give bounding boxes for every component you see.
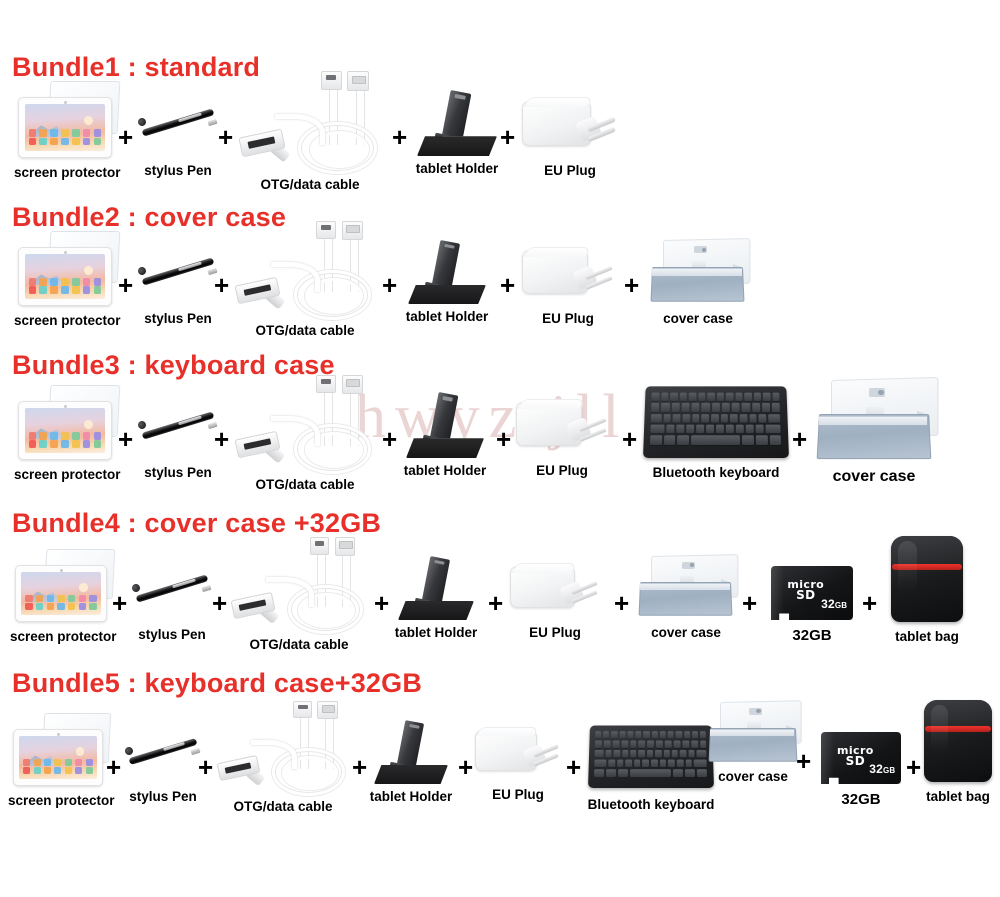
- micro-sd-card-icon: micro SD 32GB: [771, 566, 853, 620]
- bundle-4-item-eu-plug[interactable]: EU Plug: [506, 562, 604, 641]
- plus-sign: +: [392, 124, 407, 150]
- bundle-2-item-tablet-holder[interactable]: tablet Holder: [400, 240, 494, 325]
- item-label: stylus Pen: [136, 466, 220, 481]
- stylus-pen-icon: [141, 94, 215, 150]
- bundle-row-1: Bundle1 : standard screen protector +: [0, 44, 1000, 196]
- plus-sign: +: [906, 754, 921, 780]
- tablet-screen-protector-icon: [15, 558, 105, 620]
- stylus-pen-icon: [135, 562, 209, 614]
- plus-sign: +: [198, 754, 213, 780]
- item-label: Bluetooth keyboard: [580, 798, 722, 813]
- item-label: stylus Pen: [136, 164, 220, 179]
- tablet-screen-protector-icon: [13, 722, 101, 784]
- bundle-row-5: Bundle5 : keyboard case+32GB screen prot…: [0, 664, 1000, 836]
- tablet-holder-icon: [406, 392, 484, 458]
- plus-sign: +: [500, 272, 515, 298]
- otg-data-cable-icon: [240, 72, 380, 176]
- bundle-5-item-screen-protector[interactable]: screen protector: [8, 722, 106, 809]
- plus-sign: +: [500, 124, 515, 150]
- plus-sign: +: [118, 124, 133, 150]
- bundle-3-item-cover-case[interactable]: cover case: [806, 380, 942, 486]
- eu-plug-icon: [522, 96, 618, 154]
- eu-plug-icon: [522, 246, 614, 302]
- bundle-4-item-stylus-pen[interactable]: stylus Pen: [130, 562, 214, 643]
- bundle-5-item-tablet-bag[interactable]: tablet bag: [920, 700, 996, 805]
- item-label: tablet bag: [920, 790, 996, 805]
- item-label: 32GB: [812, 792, 910, 809]
- bundle-5-item-otg-data-cable[interactable]: OTG/data cable: [214, 702, 352, 815]
- bundle-2-item-stylus-pen[interactable]: stylus Pen: [136, 244, 220, 327]
- item-label: screen protector: [8, 794, 106, 809]
- sd-brand-line2: SD: [787, 590, 824, 601]
- cover-case-icon: [634, 556, 738, 618]
- bundle-3-item-eu-plug[interactable]: EU Plug: [512, 398, 612, 479]
- item-label: OTG/data cable: [228, 638, 370, 653]
- item-label: screen protector: [14, 314, 114, 329]
- bundle-1-item-otg-data-cable[interactable]: OTG/data cable: [236, 72, 384, 193]
- item-label: EU Plug: [506, 626, 604, 641]
- bundle-3-item-tablet-holder[interactable]: tablet Holder: [398, 392, 492, 479]
- plus-sign: +: [488, 590, 503, 616]
- bundle-2-item-cover-case[interactable]: cover case: [642, 240, 754, 327]
- bundle-1-item-eu-plug[interactable]: EU Plug: [518, 96, 622, 179]
- bundle-2-item-otg-data-cable[interactable]: OTG/data cable: [232, 222, 378, 339]
- item-label: cover case: [642, 312, 754, 327]
- plus-sign: +: [614, 590, 629, 616]
- bundle-1-item-stylus-pen[interactable]: stylus Pen: [136, 94, 220, 179]
- item-label: OTG/data cable: [232, 324, 378, 339]
- tablet-holder-icon: [374, 720, 448, 784]
- bundle-4-item-tablet-bag[interactable]: tablet bag: [878, 536, 976, 645]
- otg-data-cable-icon: [232, 538, 366, 636]
- item-label: EU Plug: [512, 464, 612, 479]
- eu-plug-icon: [516, 398, 608, 454]
- tablet-holder-icon: [408, 240, 486, 304]
- tablet-bag-icon: [924, 700, 992, 782]
- cover-case-icon: [704, 702, 802, 764]
- bluetooth-keyboard-icon: [588, 722, 714, 788]
- stylus-pen-icon: [141, 244, 215, 298]
- item-label: OTG/data cable: [232, 478, 378, 493]
- tablet-screen-protector-icon: [18, 90, 110, 156]
- bluetooth-keyboard-icon: [643, 382, 789, 458]
- item-label: EU Plug: [518, 312, 618, 327]
- plus-sign: +: [382, 272, 397, 298]
- plus-sign: +: [382, 426, 397, 452]
- plus-sign: +: [214, 426, 229, 452]
- bundle-row-3: Bundle3 : keyboard case screen protector…: [0, 346, 1000, 504]
- item-label: stylus Pen: [122, 790, 204, 805]
- micro-sd-card-icon: micro SD 32GB: [821, 732, 901, 784]
- bundle-1-item-screen-protector[interactable]: screen protector: [14, 90, 114, 181]
- plus-sign: +: [214, 272, 229, 298]
- plus-sign: +: [352, 754, 367, 780]
- bundle-2-item-screen-protector[interactable]: screen protector: [14, 240, 114, 329]
- tablet-screen-protector-icon: [18, 240, 110, 304]
- bundle-4-item-cover-case[interactable]: cover case: [630, 556, 742, 641]
- bundle-3-item-stylus-pen[interactable]: stylus Pen: [136, 398, 220, 481]
- cover-case-icon: [811, 380, 937, 462]
- bundle-5-item-tablet-holder[interactable]: tablet Holder: [366, 720, 456, 805]
- item-label: tablet Holder: [410, 162, 504, 177]
- tablet-bag-icon: [891, 536, 963, 622]
- bundle-5-item-cover-case[interactable]: cover case: [700, 702, 806, 785]
- eu-plug-icon: [475, 726, 561, 778]
- item-label: tablet Holder: [400, 310, 494, 325]
- bundle-4-item-tablet-holder[interactable]: tablet Holder: [390, 556, 482, 641]
- item-label: tablet Holder: [398, 464, 492, 479]
- item-label: EU Plug: [518, 164, 622, 179]
- plus-sign: +: [106, 754, 121, 780]
- sd-brand-line2: SD: [837, 756, 874, 767]
- item-label: tablet Holder: [390, 626, 482, 641]
- bundle-3-item-bluetooth-keyboard[interactable]: Bluetooth keyboard: [640, 382, 792, 481]
- plus-sign: +: [624, 272, 639, 298]
- bundle-row-4: Bundle4 : cover case +32GB screen protec…: [0, 504, 1000, 664]
- item-label: stylus Pen: [136, 312, 220, 327]
- plus-sign: +: [212, 590, 227, 616]
- plus-sign: +: [566, 754, 581, 780]
- plus-sign: +: [118, 426, 133, 452]
- plus-sign: +: [458, 754, 473, 780]
- bundle-3-item-screen-protector[interactable]: screen protector: [14, 394, 114, 483]
- otg-data-cable-icon: [218, 702, 348, 798]
- bundle-1-item-tablet-holder[interactable]: tablet Holder: [410, 90, 504, 177]
- cover-case-icon: [646, 240, 750, 304]
- eu-plug-icon: [510, 562, 600, 616]
- bundle-5-item-micro-sd[interactable]: micro SD 32GB 32GB: [812, 732, 910, 809]
- item-label: stylus Pen: [130, 628, 214, 643]
- bundle-3-item-otg-data-cable[interactable]: OTG/data cable: [232, 376, 378, 493]
- bundle-5-item-stylus-pen[interactable]: stylus Pen: [122, 726, 204, 805]
- tablet-holder-icon: [398, 556, 474, 620]
- item-label: Bluetooth keyboard: [640, 466, 792, 481]
- stylus-pen-icon: [128, 726, 198, 776]
- item-label: EU Plug: [472, 788, 564, 803]
- sd-capacity: 32GB: [821, 597, 847, 611]
- stylus-pen-icon: [141, 398, 215, 452]
- plus-sign: +: [742, 590, 757, 616]
- tablet-screen-protector-icon: [18, 394, 110, 458]
- plus-sign: +: [374, 590, 389, 616]
- item-label: screen protector: [14, 468, 114, 483]
- item-label: tablet Holder: [366, 790, 456, 805]
- plus-sign: +: [622, 426, 637, 452]
- plus-sign: +: [118, 272, 133, 298]
- otg-data-cable-icon: [236, 376, 374, 476]
- plus-sign: +: [496, 426, 511, 452]
- item-label: 32GB: [760, 628, 864, 645]
- bundle-4-item-screen-protector[interactable]: screen protector: [10, 558, 110, 645]
- item-label: screen protector: [14, 166, 114, 181]
- bundle-2-item-eu-plug[interactable]: EU Plug: [518, 246, 618, 327]
- otg-data-cable-icon: [236, 222, 374, 322]
- bundle-row-2: Bundle2 : cover case screen protector +: [0, 196, 1000, 344]
- item-label: OTG/data cable: [236, 178, 384, 193]
- item-label: screen protector: [10, 630, 110, 645]
- plus-sign: +: [218, 124, 233, 150]
- tablet-holder-icon: [417, 90, 497, 156]
- sd-capacity: 32GB: [869, 762, 895, 776]
- item-label: tablet bag: [878, 630, 976, 645]
- bundle-5-item-eu-plug[interactable]: EU Plug: [472, 726, 564, 803]
- bundle-4-item-otg-data-cable[interactable]: OTG/data cable: [228, 538, 370, 653]
- plus-sign: +: [862, 590, 877, 616]
- item-label: cover case: [700, 770, 806, 785]
- bundle-4-item-micro-sd[interactable]: micro SD 32GB 32GB: [760, 566, 864, 645]
- plus-sign: +: [112, 590, 127, 616]
- item-label: OTG/data cable: [214, 800, 352, 815]
- plus-sign: +: [792, 426, 807, 452]
- item-label: cover case: [806, 468, 942, 486]
- item-label: cover case: [630, 626, 742, 641]
